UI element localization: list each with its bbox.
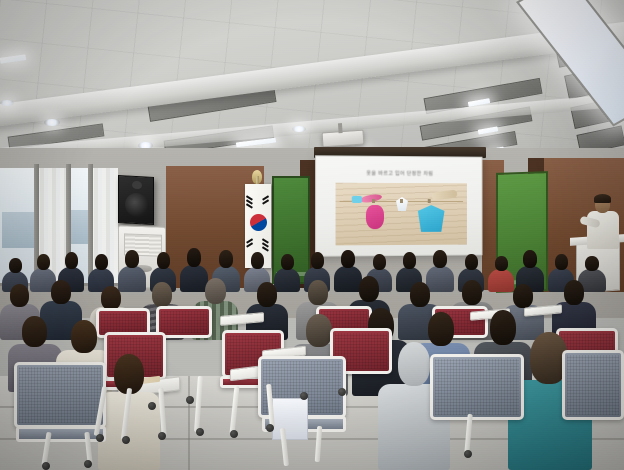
person-head: [585, 256, 599, 271]
person-head: [410, 282, 430, 307]
person-head: [219, 250, 233, 268]
chair-mesh: [19, 367, 101, 423]
pink-garment-icon: [366, 205, 384, 229]
chair-caster: [42, 462, 50, 470]
speaker-tweeter-icon: [132, 181, 142, 190]
blue-small-garment-icon: [352, 196, 362, 203]
slide-title-text: 옷을 바르고 입어 단정한 차림: [316, 169, 481, 177]
person-head: [205, 278, 226, 304]
person-head: [341, 250, 355, 268]
chair-backrest: [430, 354, 524, 420]
chair-caster: [84, 460, 92, 468]
clothes-peg-icon: [400, 199, 403, 203]
chair-grey[interactable]: [430, 354, 524, 420]
ceiling-projector: [322, 130, 365, 148]
person-head: [465, 254, 478, 270]
person-head: [281, 254, 294, 270]
chair-caster: [266, 424, 274, 432]
person-head: [251, 252, 264, 269]
chair-grey[interactable]: [14, 362, 106, 428]
chair-leg: [315, 426, 322, 462]
person-head: [495, 256, 508, 271]
person-head: [513, 284, 533, 308]
chair-caster: [186, 396, 194, 404]
person-head: [125, 250, 139, 268]
chair-caster: [338, 388, 346, 396]
person-head: [523, 250, 537, 268]
person-head: [51, 280, 71, 304]
chair-caster: [230, 430, 238, 438]
chair-caster: [158, 432, 166, 440]
person-head: [22, 316, 47, 347]
chair-caster: [96, 434, 104, 442]
person-head: [306, 314, 332, 347]
chair-caster: [464, 450, 472, 458]
person-head: [152, 282, 172, 307]
chair-mesh: [161, 311, 207, 333]
ceiling: [0, 0, 624, 160]
chair-leg: [230, 386, 240, 434]
speaker-cone-icon: [125, 192, 149, 217]
person-head: [398, 342, 430, 386]
ceiling-downlight: [292, 126, 306, 132]
chair-caster: [300, 392, 308, 400]
chair-caster: [122, 436, 130, 444]
person-head: [462, 280, 482, 305]
person-head: [95, 254, 108, 270]
chair-leg: [194, 376, 203, 432]
ceiling-downlight: [44, 119, 60, 126]
person-head: [71, 320, 97, 353]
chair-backrest: [562, 350, 624, 420]
wall-speaker: [118, 175, 154, 225]
projector-mount: [338, 123, 343, 133]
person-head: [311, 252, 324, 269]
presenter-hair: [594, 194, 611, 203]
person-head: [433, 250, 447, 268]
chair-caster: [196, 428, 204, 436]
person-head: [373, 254, 386, 270]
chair-grey[interactable]: [562, 350, 624, 420]
person-head: [101, 286, 121, 310]
lecture-hall-photo: 옷을 바르고 입어 단정한 차림: [0, 0, 624, 470]
clothes-peg-icon: [428, 199, 431, 203]
chair-caster: [148, 402, 156, 410]
chair-backrest: [14, 362, 106, 428]
person-head: [308, 280, 328, 305]
audience: [0, 236, 624, 470]
paper-on-seat: [272, 398, 308, 440]
person-head: [359, 276, 379, 302]
chair-mesh: [567, 355, 619, 415]
taeguk-symbol-icon: [250, 214, 267, 231]
person-head: [65, 252, 78, 269]
person-head: [37, 254, 50, 270]
chair-mesh: [435, 359, 519, 415]
ceiling-downlight: [0, 100, 14, 106]
clothes-peg-icon: [372, 199, 375, 203]
person-head: [257, 282, 277, 307]
person-head: [10, 284, 29, 307]
person-head: [428, 312, 454, 346]
person-head: [403, 252, 416, 269]
chair-seat[interactable]: [16, 426, 106, 442]
person-head: [187, 248, 201, 267]
person-head: [9, 258, 22, 273]
person-head: [157, 252, 170, 269]
person-head: [564, 280, 584, 305]
person-head: [555, 254, 568, 270]
